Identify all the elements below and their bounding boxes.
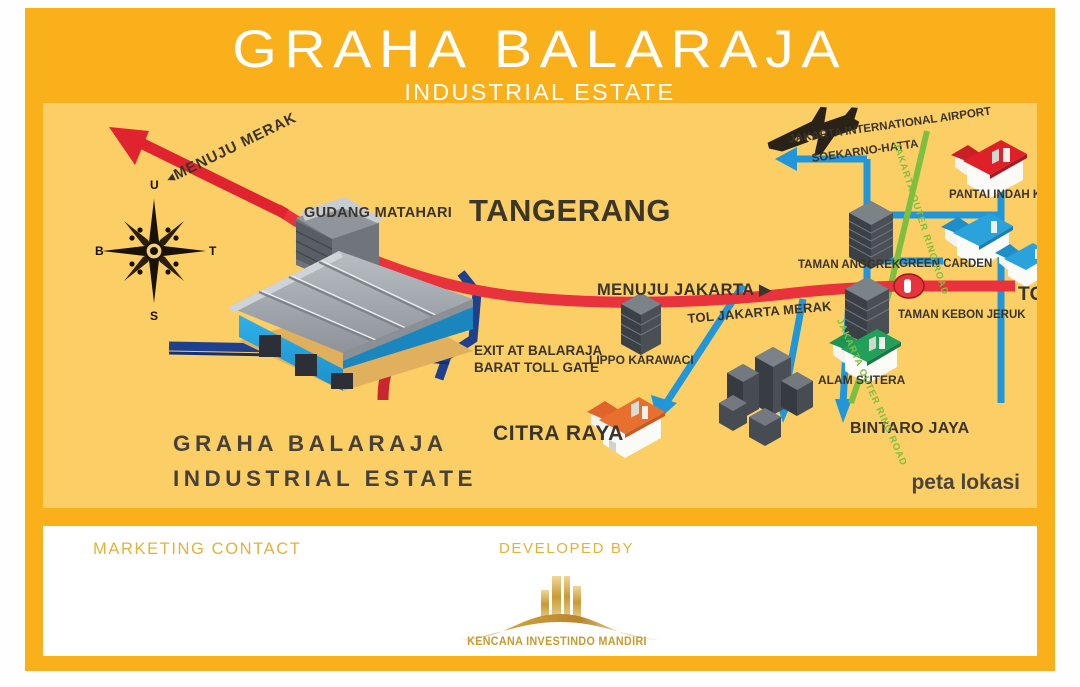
warehouse-illustration [229,197,473,391]
map-label-taman-kebon-jeruk: TAMAN KEBON JERUK [898,309,1026,321]
map-label-tangerang: TANGERANG [469,193,671,229]
map-label-gudang-matahari: GUDANG MATAHARI [304,205,452,221]
map-label-citra-raya: CITRA RAYA [493,422,624,446]
map-label-exit-line1: EXIT AT BALARAJA [474,343,602,358]
compass-east-label: T [209,244,217,258]
map-label-menuju-jakarta: MENUJU JAKARTA ▶ [597,280,772,300]
map-caption: peta lokasi [911,471,1020,495]
compass-west-label: B [95,244,104,258]
map-label-pantai-indah-kapuk: PANTAI INDAH KAPUK [949,189,1037,201]
map-label-tomang: TOMANG [1018,284,1037,306]
title-block: GRAHA BALARAJA INDUSTRIAL ESTATE [25,8,1055,100]
page-title: GRAHA BALARAJA [233,22,848,78]
map-label-taman-anggrek: TAMAN ANGGREK [798,259,900,271]
map-label-lippo-karawaci: LIPPO KARAWACI [589,353,694,367]
developed-by-heading: DEVELOPED BY [499,540,634,557]
map-label-green-carden: GREEN CARDEN [899,258,992,270]
map-label-bintaro-jaya: BINTARO JAYA [850,420,969,438]
marketing-contact-heading: MARKETING CONTACT [93,540,301,559]
lippo-karawaci-building [621,293,661,355]
location-map: U S B T [43,103,1037,508]
map-estate-name-line2: INDUSTRIAL ESTATE [173,466,477,492]
map-label-exit-line2: BARAT TOLL GATE [474,360,599,375]
footer-panel: MARKETING CONTACT DEVELOPED BY [43,526,1037,656]
toll-junction-marker [894,274,924,298]
compass-south-label: S [150,309,158,323]
developer-name: KENCANA INVESTINDO MANDIRI [455,636,660,648]
map-estate-name-line1: GRAHA BALARAJA [173,431,448,457]
amber-frame: GRAHA BALARAJA INDUSTRIAL ESTATE [25,8,1055,671]
compass-north-label: U [150,178,159,192]
page-subtitle: INDUSTRIAL ESTATE [404,80,675,105]
brochure-page: GRAHA BALARAJA INDUSTRIAL ESTATE [0,0,1080,687]
bintaro-jaya-building-cluster [719,347,813,446]
compass-rose [102,199,206,303]
